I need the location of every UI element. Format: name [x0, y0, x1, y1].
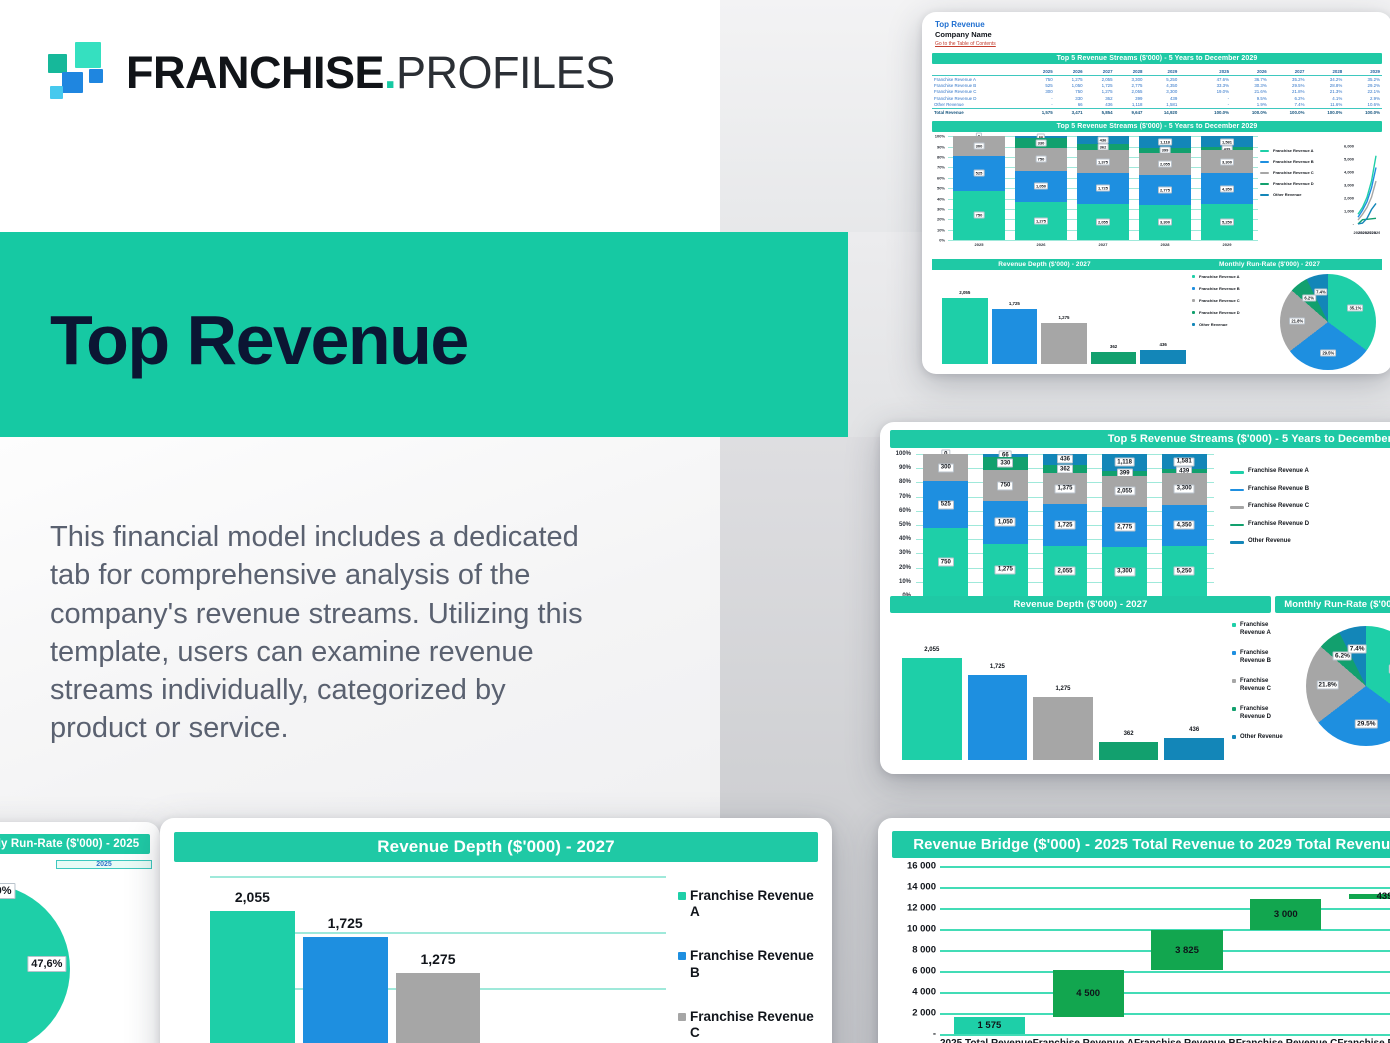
bridge-y-tick: 2 000 [912, 1008, 936, 1019]
stack-segment: 330 [1015, 138, 1068, 148]
y-tick: 50% [899, 522, 911, 528]
legend-label: Other Revenue [1199, 322, 1227, 327]
col-2028-val: 2028 [1115, 68, 1145, 76]
pie-slice-label: 21.8% [1316, 680, 1338, 689]
depth-bar: 2,055 [942, 298, 988, 364]
stack-label: 5,250 [1174, 567, 1195, 576]
mini-stacked-chart: 100%90%80%70%60%50%40%30%20%10%0% 030052… [930, 136, 1384, 254]
legend-swatch [1232, 679, 1236, 683]
revenue-bridge-bars: 1 5754 5003 8253 000439 [940, 866, 1390, 1034]
y-tick: 60% [937, 175, 945, 180]
depth-bar: 436 [1164, 738, 1224, 760]
row-label: Franchise Revenue A [932, 76, 1025, 83]
legend-item: Franchise Revenue A [678, 888, 818, 920]
revenue-depth-legend: Franchise Revenue AFranchise Revenue BFr… [678, 888, 818, 1043]
stacked-bar: 0300525750 [953, 136, 1006, 240]
line-y-tick: 4,000 [1344, 170, 1354, 175]
legend-swatch [678, 952, 686, 960]
legend-swatch [1230, 541, 1244, 544]
cell-percent: 11.6% [1307, 102, 1345, 109]
legend-label: Other Revenue [1248, 538, 1291, 546]
stack-segment: 2,055 [1102, 476, 1147, 506]
y-tick: 30% [899, 550, 911, 556]
cell-value: 2,055 [1085, 76, 1115, 83]
col-2025-val: 2025 [1025, 68, 1055, 76]
revenue-depth-plot: 2,0551,7251,275 [210, 876, 666, 1043]
dashboard-screenshot-card[interactable]: Top 5 Revenue Streams ($'000) - 5 Years … [880, 422, 1390, 774]
waterfall-column: 4 500 [1039, 866, 1138, 1034]
mini-chart-bars: 0300525750663307501,0501,2754363621,3751… [948, 136, 1258, 240]
cell-percent: 34.2% [1307, 76, 1345, 83]
stack-label: 4,350 [1220, 185, 1234, 192]
legend-item: Franchise Revenue A [1230, 468, 1312, 476]
dashboard-bars: 0300525750663307501,0501,2754363621,3751… [916, 454, 1214, 596]
legend-swatch [1230, 489, 1244, 492]
bridge-y-tick: 8 000 [912, 945, 936, 956]
col-2027-val: 2027 [1085, 68, 1115, 76]
mini-chart-y-axis: 100%90%80%70%60%50%40%30%20%10%0% [930, 136, 946, 240]
stack-label: 1,050 [995, 518, 1016, 527]
stacked-bar: 0300525750 [923, 454, 968, 596]
cell-percent: 36.7% [1231, 76, 1269, 83]
depth-bar: 362 [1099, 742, 1159, 760]
legend-item: Franchise Revenue A [1192, 274, 1242, 279]
cell-percent: 7.4% [1269, 102, 1307, 109]
legend-swatch [678, 892, 686, 900]
background-panel-top-left [0, 0, 720, 232]
legend-item: Franchise Revenue D [1192, 310, 1242, 315]
stack-label: 750 [974, 212, 985, 219]
bridge-y-tick: - [933, 1029, 936, 1040]
cell-value: 1,581 [1145, 102, 1180, 109]
cell-percent: 35.2% [1269, 76, 1307, 83]
depth-bar: 1,275 [1033, 697, 1093, 760]
x-tick: 2027 [1099, 242, 1108, 247]
stack-label: 362 [1057, 465, 1073, 474]
mini-runrate-title: Monthly Run-Rate ($'000) - 2027 [1157, 261, 1382, 268]
stack-segment: 750 [983, 470, 1028, 501]
stack-label: 2,775 [1114, 523, 1135, 532]
brand-name-light: PROFILES [396, 47, 615, 98]
cell-value: 66 [1055, 102, 1085, 109]
y-tick: 10% [899, 579, 911, 585]
depth-bar-label: 362 [1110, 344, 1117, 349]
line-y-tick: 1,000 [1344, 209, 1354, 214]
legend-item: Franchise Revenue D [1230, 521, 1312, 529]
cell-percent: 100.0% [1307, 108, 1345, 115]
depth-bar-label: 2,055 [924, 647, 939, 653]
cell-percent: 1.9% [1231, 102, 1269, 109]
stack-segment: 1,050 [983, 501, 1028, 544]
legend-swatch [1192, 287, 1195, 290]
cell-percent: 100.0% [1193, 108, 1231, 115]
workbook-chart-title: Top 5 Revenue Streams ($'000) - 5 Years … [932, 121, 1382, 132]
stack-segment: 3,300 [1201, 150, 1254, 173]
y-tick: 80% [937, 155, 945, 160]
depth-bar: 1,725 [303, 937, 388, 1043]
stack-segment: 1,050 [1015, 171, 1068, 202]
legend-label: Franchise Revenue C [1240, 678, 1294, 693]
page-title: Top Revenue [50, 300, 468, 380]
stack-segment: 4,350 [1201, 173, 1254, 203]
bridge-x-tick: Franchise Revenue A [1033, 1038, 1134, 1043]
dashboard-stacked-chart: 100%90%80%70%60%50%40%30%20%10%0% 030052… [888, 454, 1390, 614]
stack-label: 2,775 [1158, 186, 1172, 193]
revenue-depth-card[interactable]: Revenue Depth ($'000) - 2027 2,0551,7251… [160, 818, 832, 1043]
brand-wordmark: FRANCHISE.PROFILES [126, 47, 615, 99]
stack-segment: 750 [1015, 148, 1068, 170]
cell-value: 436 [1085, 102, 1115, 109]
mini-depth-legend: Franchise Revenue AFranchise Revenue BFr… [1192, 274, 1242, 334]
depth-bar: 1,275 [396, 973, 481, 1043]
workbook-company-name: Company Name [935, 30, 1390, 39]
stack-label: 3,300 [1174, 484, 1195, 493]
y-tick: 10% [937, 227, 945, 232]
stack-segment: 362 [1043, 465, 1088, 474]
y-tick: 40% [899, 536, 911, 542]
stack-segment: 4,350 [1162, 505, 1207, 546]
stack-label: 2,055 [1054, 567, 1075, 576]
legend-swatch [1192, 299, 1195, 302]
run-rate-year-badge: 2025 [56, 860, 152, 869]
mini-line-series: 20252026202720282029 [1262, 136, 1380, 248]
x-tick: 2029 [1223, 242, 1232, 247]
y-tick: 20% [899, 565, 911, 571]
legend-swatch [1192, 311, 1195, 314]
brand-dot: . [384, 47, 396, 98]
dashboard-runrate-title: Monthly Run-Rate ($'000) - 2027 [1275, 596, 1390, 613]
stack-label: 750 [997, 481, 1013, 490]
depth-bar-label: 362 [1124, 731, 1134, 737]
stack-label: 1,275 [995, 565, 1016, 574]
stack-label: 436 [1057, 455, 1073, 464]
col-2029-val: 2029 [1145, 68, 1180, 76]
waterfall-bar: 3 825 [1151, 930, 1222, 970]
pie-slice-label: 7.4% [1348, 644, 1367, 653]
legend-label: Franchise Revenue B [690, 948, 818, 980]
stack-label: 1,275 [1034, 218, 1048, 225]
col-2028-pct: 2028 [1307, 68, 1345, 76]
legend-label: Franchise Revenue A [1240, 622, 1294, 637]
dashboard-row2-titles: Revenue Depth ($'000) - 2027 Monthly Run… [890, 596, 1390, 613]
legend-item: Franchise Revenue C [1192, 298, 1242, 303]
bridge-x-tick: Franchise Revenue C [1236, 1038, 1338, 1043]
depth-bar: 1,275 [1041, 323, 1087, 364]
stacked-bar: 1,5814393,3004,3505,250 [1162, 454, 1207, 596]
stack-label: 1,581 [1174, 457, 1195, 466]
cell-percent: 35.2% [1344, 76, 1382, 83]
bridge-x-tick: Franchise Revenue D [1337, 1038, 1390, 1043]
cell-percent: 100.0% [1269, 108, 1307, 115]
stack-segment: 750 [953, 191, 1006, 241]
stack-label: 436 [1098, 137, 1109, 144]
stacked-bar: 4363621,3751,7252,055 [1077, 136, 1130, 240]
y-tick: 100% [896, 451, 911, 457]
spacer-cell [1179, 102, 1193, 109]
y-tick: 30% [937, 207, 945, 212]
cell-value: 1,275 [1055, 76, 1085, 83]
stack-segment: 300 [953, 136, 1006, 156]
revenue-bridge-card[interactable]: Revenue Bridge ($'000) - 2025 Total Reve… [878, 818, 1390, 1043]
y-tick: 90% [937, 144, 945, 149]
mini-depth-bars: 2,0551,7251,275362436 [942, 286, 1186, 364]
stack-label: 1,375 [1096, 158, 1110, 165]
dashboard-plot: 0300525750663307501,0501,2754363621,3751… [916, 454, 1214, 596]
table-row: Franchise Revenue A7501,2752,0553,3005,2… [932, 76, 1382, 83]
legend-label: Franchise Revenue A [690, 888, 818, 920]
brand-name-bold: FRANCHISE [126, 47, 384, 98]
hero-description: This financial model includes a dedicate… [50, 518, 610, 748]
stack-label: 1,375 [1054, 484, 1075, 493]
stack-label: 2,055 [1158, 160, 1172, 167]
line-y-tick: 3,000 [1344, 183, 1354, 188]
stack-label: 5,250 [1220, 218, 1234, 225]
depth-bar: 2,055 [210, 911, 295, 1043]
legend-swatch [1192, 323, 1195, 326]
revenue-bridge-title: Revenue Bridge ($'000) - 2025 Total Reve… [892, 831, 1390, 858]
cell-value: 5,854 [1085, 108, 1115, 115]
waterfall-column: 439 [1335, 866, 1390, 1034]
bridge-y-tick: 14 000 [907, 882, 936, 893]
stack-segment: 525 [923, 481, 968, 528]
legend-swatch [1230, 471, 1244, 474]
cell-value: 1,575 [1025, 108, 1055, 115]
stack-segment: 5,250 [1162, 546, 1207, 596]
waterfall-bar: 3 000 [1250, 899, 1321, 931]
bridge-y-tick: 10 000 [907, 924, 936, 935]
legend-swatch [1230, 506, 1244, 509]
col-2026-pct: 2026 [1231, 68, 1269, 76]
pie-slice-label: 7.4% [1314, 289, 1328, 296]
stack-label: 300 [974, 143, 985, 150]
cell-value: 5,250 [1145, 76, 1180, 83]
workbook-row2-titles: Revenue Depth ($'000) - 2027 Monthly Run… [932, 259, 1382, 270]
stack-segment: 5,250 [1201, 204, 1254, 241]
pie-slice-label: 29.5% [1320, 349, 1336, 356]
legend-label: Franchise Revenue D [1240, 706, 1294, 721]
stack-segment: 1,725 [1077, 173, 1130, 204]
legend-item: Other Revenue [1232, 734, 1294, 742]
stack-label: 1,725 [1096, 185, 1110, 192]
stack-segment: 3,300 [1102, 547, 1147, 596]
cell-value: 3,471 [1055, 108, 1085, 115]
row-label: Other Revenue [932, 102, 1025, 109]
stack-label: 750 [1036, 156, 1047, 163]
stack-label: 330 [1036, 140, 1047, 147]
cell-percent: 100.0% [1231, 108, 1269, 115]
y-tick: 20% [937, 217, 945, 222]
stack-label: 1,581 [1220, 138, 1234, 145]
depth-bar: 436 [1140, 350, 1186, 364]
stack-segment: 1,375 [1043, 473, 1088, 504]
legend-item: Franchise Revenue B [1192, 286, 1242, 291]
stack-segment: 2,775 [1102, 507, 1147, 548]
depth-bar-label: 2,055 [959, 290, 970, 295]
stacked-bar: 1,1183992,0552,7753,300 [1102, 454, 1147, 596]
depth-bar: 1,725 [992, 309, 1038, 364]
bridge-y-tick: 6 000 [912, 966, 936, 977]
stack-segment: 2,055 [1077, 204, 1130, 241]
revenue-bridge-y-axis: 16 00014 00012 00010 0008 0006 0004 0002… [888, 866, 936, 1034]
mini-line-chart: 6,0005,0004,0003,0002,0001,000- 20252026… [1262, 136, 1380, 248]
legend-swatch [1232, 651, 1236, 655]
table-of-contents-link[interactable]: Go to the Table of Contents [935, 41, 1390, 47]
cell-value: 14,920 [1145, 108, 1180, 115]
cell-percent: - [1193, 102, 1231, 109]
y-tick: 70% [937, 165, 945, 170]
y-tick: 40% [937, 196, 945, 201]
legend-swatch [1230, 524, 1244, 527]
dashboard-y-axis: 100%90%80%70%60%50%40%30%20%10%0% [888, 454, 914, 596]
row-label: Total Revenue [932, 108, 1025, 115]
legend-item: Franchise Revenue C [678, 1009, 818, 1041]
y-tick: 0% [939, 238, 945, 243]
legend-label: Franchise Revenue C [1199, 298, 1240, 303]
stack-label: 330 [997, 459, 1013, 468]
depth-bar-label: 1,275 [1055, 686, 1070, 692]
y-tick: 70% [899, 494, 911, 500]
waterfall-bar: 439 [1349, 894, 1390, 899]
legend-label: Franchise Revenue A [1248, 468, 1309, 476]
table-row: Other Revenue-664361,1181,581-1.9%7.4%11… [932, 102, 1382, 109]
workbook-screenshot-card[interactable]: Top Revenue Company Name Go to the Table… [922, 12, 1390, 374]
logo-squares-icon [48, 42, 110, 104]
col-2029-pct: 2029 [1344, 68, 1382, 76]
run-rate-pie-title: Monthly Run-Rate ($'000) - 2025 [0, 834, 150, 854]
stack-label: 2,055 [1114, 487, 1135, 496]
legend-label: Franchise Revenue B [1199, 286, 1240, 291]
stacked-bar: 1,5814393,3004,3505,250 [1201, 136, 1254, 240]
stack-segment: 2,055 [1139, 153, 1192, 175]
depth-bar-label: 436 [1189, 727, 1199, 733]
mini-run-rate-pie: 35.1%29.5%21.8%6.2%7.4% [1280, 274, 1376, 370]
depth-bar: 2,055 [902, 658, 962, 760]
col-2027-pct: 2027 [1269, 68, 1307, 76]
y-tick: 50% [937, 186, 945, 191]
stack-segment: 330 [983, 457, 1028, 471]
depth-bar-label: 2,055 [235, 889, 270, 905]
brand-logo[interactable]: FRANCHISE.PROFILES [48, 42, 615, 104]
svg-text:2029: 2029 [1372, 230, 1380, 235]
dashboard-depth-legend: Franchise Revenue AFranchise Revenue BFr… [1232, 622, 1294, 755]
pie-slice-label: 35.1% [1347, 305, 1363, 312]
legend-item: Franchise Revenue B [1230, 486, 1312, 494]
stacked-bar: 663307501,0501,275 [983, 454, 1028, 596]
stack-segment: 3,300 [1162, 473, 1207, 504]
x-tick: 2025 [975, 242, 984, 247]
bridge-y-tick: 16 000 [907, 861, 936, 872]
stack-label: 1,118 [1114, 458, 1135, 467]
stack-label: 3,300 [1220, 158, 1234, 165]
bridge-x-tick: Franchise Revenue B [1134, 1038, 1236, 1043]
depth-bar-label: 1,725 [1009, 301, 1020, 306]
cell-value: 3,300 [1115, 76, 1145, 83]
depth-bar-label: 436 [1160, 342, 1167, 347]
stacked-bar: 1,1183992,0552,7753,300 [1139, 136, 1192, 240]
pie-slice-label: 0,0% [0, 883, 16, 899]
legend-swatch [1192, 275, 1195, 278]
stack-segment: 1,275 [983, 544, 1028, 596]
line-y-tick: 6,000 [1344, 144, 1354, 149]
col-2025-pct: 2025 [1193, 68, 1231, 76]
cell-percent: 47.6% [1193, 76, 1231, 83]
dashboard-depth-title: Revenue Depth ($'000) - 2027 [890, 596, 1271, 613]
stack-label: 1,118 [1158, 139, 1172, 146]
dashboard-depth-bars: 2,0551,7251,275362436 [902, 640, 1224, 760]
legend-item: Franchise Revenue D [1232, 706, 1294, 721]
mini-chart-x-axis: 20252026202720282029 [948, 242, 1258, 247]
stack-label: 4,350 [1174, 521, 1195, 530]
legend-item: Franchise Revenue C [1232, 678, 1294, 693]
workbook-table-title: Top 5 Revenue Streams ($'000) - 5 Years … [932, 53, 1382, 64]
mini-chart-plot: 0300525750663307501,0501,2754363621,3751… [948, 136, 1258, 240]
stack-segment: 525 [953, 156, 1006, 191]
stack-segment: 300 [923, 454, 968, 481]
legend-swatch [1232, 707, 1236, 711]
waterfall-bar: 1 575 [954, 1017, 1025, 1034]
x-tick: 2026 [1037, 242, 1046, 247]
table-header-row: 2025 2026 2027 2028 2029 2025 2026 2027 … [932, 68, 1382, 76]
spacer-cell [1179, 76, 1193, 83]
stack-segment: 2,775 [1139, 175, 1192, 205]
bridge-x-tick: 2025 Total Revenue [940, 1038, 1033, 1043]
dashboard-line-chart: 6,0005,0004,0003,0002,0001,000- 20252026… [1314, 454, 1390, 604]
x-tick: 2028 [1161, 242, 1170, 247]
legend-label: Franchise Revenue D [1199, 310, 1240, 315]
revenue-bridge-x-axis: 2025 Total RevenueFranchise Revenue AFra… [940, 1038, 1390, 1043]
stack-label: 3,300 [1114, 567, 1135, 576]
legend-label: Franchise Revenue B [1240, 650, 1294, 665]
cell-percent: 100.0% [1344, 108, 1382, 115]
pie-slice-label: 29.5% [1355, 720, 1377, 729]
legend-item: Franchise Revenue B [678, 948, 818, 980]
stack-label: 750 [938, 558, 954, 567]
y-tick: 100% [935, 134, 945, 139]
y-tick: 60% [899, 508, 911, 514]
table-total-row: Total Revenue1,5753,4715,8549,64714,9201… [932, 108, 1382, 115]
mini-depth-title: Revenue Depth ($'000) - 2027 [932, 261, 1157, 268]
cell-percent: 10.6% [1344, 102, 1382, 109]
mini-revenue-depth-chart: 2,0551,7251,275362436 [936, 270, 1186, 370]
bridge-y-tick: 12 000 [907, 903, 936, 914]
y-tick: 90% [899, 465, 911, 471]
cell-value: 1,118 [1115, 102, 1145, 109]
legend-swatch [1232, 623, 1236, 627]
legend-item: Franchise Revenue B [1232, 650, 1294, 665]
legend-item: Other Revenue [1230, 538, 1312, 546]
run-rate-pie-card[interactable]: Monthly Run-Rate ($'000) - 2025 2025 47,… [0, 822, 160, 1043]
legend-label: Franchise Revenue C [1248, 503, 1309, 511]
line-y-tick: 5,000 [1344, 157, 1354, 162]
col-2026-val: 2026 [1055, 68, 1085, 76]
stacked-bar: 4363621,3751,7252,055 [1043, 454, 1088, 596]
line-y-tick: 2,000 [1344, 196, 1354, 201]
stack-label: 1,050 [1034, 183, 1048, 190]
waterfall-column: 1 575 [940, 866, 1039, 1034]
stack-segment: 3,300 [1139, 205, 1192, 241]
bridge-y-tick: 4 000 [912, 987, 936, 998]
stacked-bar: 663307501,0501,275 [1015, 136, 1068, 240]
y-tick: 80% [899, 479, 911, 485]
depth-bar: 1,725 [968, 675, 1028, 760]
legend-swatch [1232, 735, 1236, 739]
dashboard-chart-title: Top 5 Revenue Streams ($'000) - 5 Years … [890, 430, 1390, 448]
line-y-tick: - [1353, 222, 1354, 227]
legend-label: Franchise Revenue A [1199, 274, 1240, 279]
cell-value: 9,647 [1115, 108, 1145, 115]
depth-bar-label: 1,725 [328, 915, 363, 931]
legend-item: Franchise Revenue C [1230, 503, 1312, 511]
